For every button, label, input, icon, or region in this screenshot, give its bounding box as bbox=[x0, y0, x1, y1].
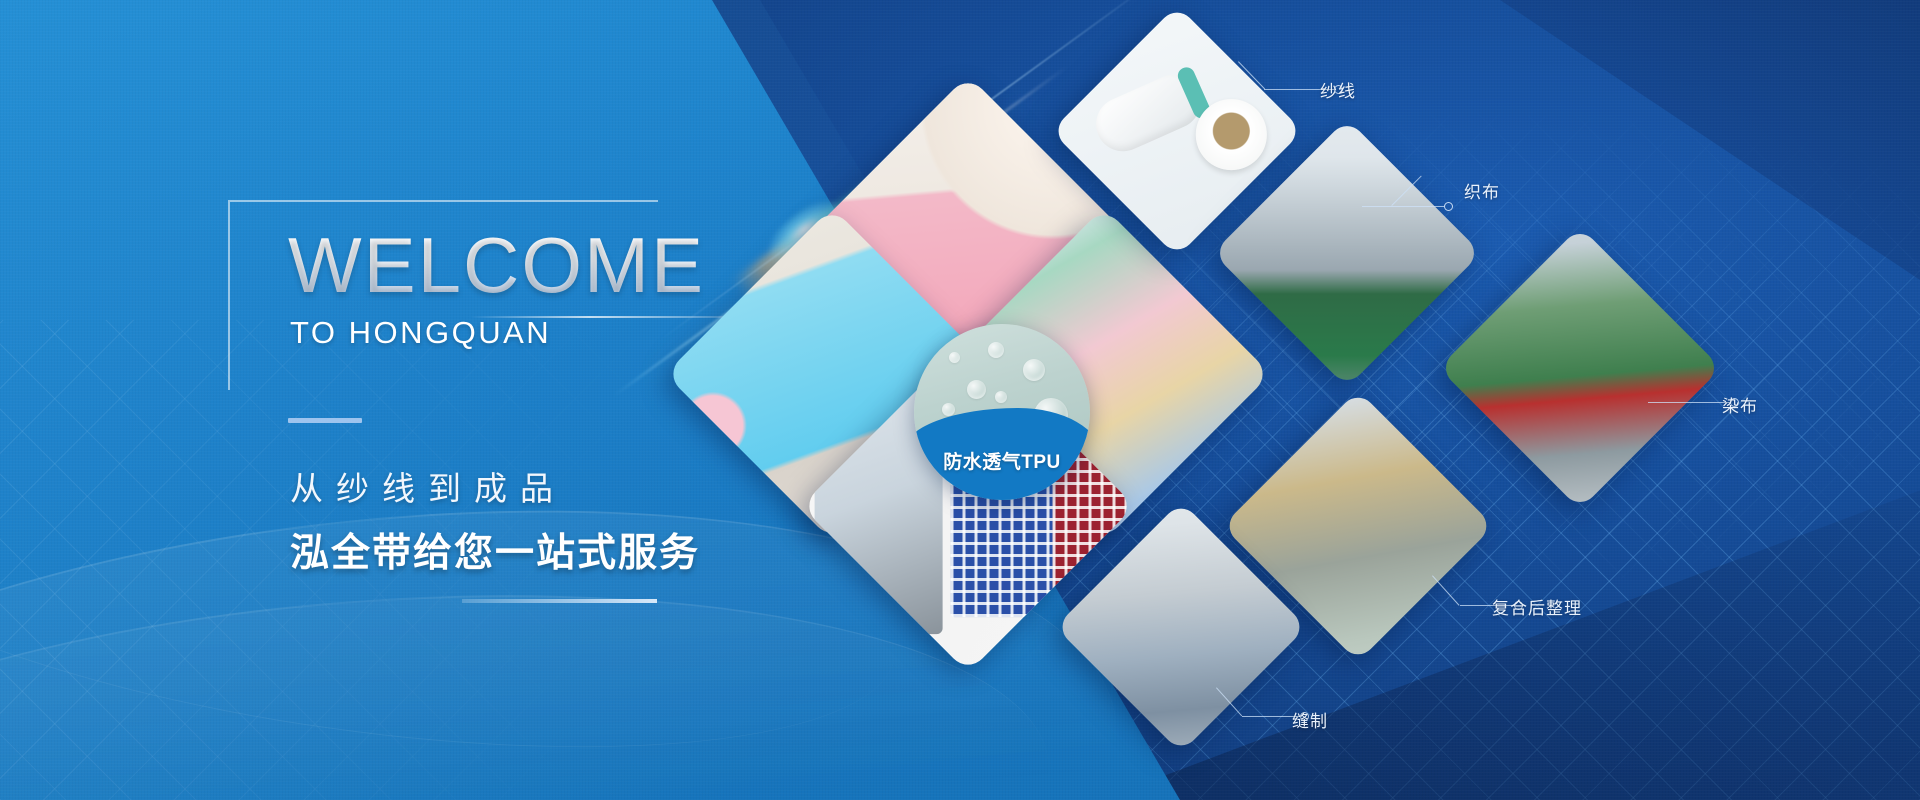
process-label-yarn: 纱线 bbox=[1320, 77, 1356, 102]
process-label-weaving: 织布 bbox=[1464, 178, 1500, 203]
tpu-badge[interactable]: 防水透气TPU bbox=[914, 324, 1090, 500]
accent-dash bbox=[288, 418, 362, 423]
process-label-finishing: 复合后整理 bbox=[1492, 594, 1582, 619]
page-title: WELCOME bbox=[288, 228, 705, 302]
banner-stage: WELCOME TO HONGQUAN 从纱线到成品 泓全带给您一站式服务 bbox=[0, 0, 1920, 800]
process-label-dyeing: 染布 bbox=[1722, 392, 1758, 417]
tagline-primary: 从纱线到成品 bbox=[290, 462, 566, 510]
tagline-secondary: 泓全带给您一站式服务 bbox=[290, 522, 700, 578]
tpu-badge-label: 防水透气TPU bbox=[914, 447, 1090, 474]
bottom-rule bbox=[462, 599, 657, 603]
process-label-sewing: 缝制 bbox=[1292, 707, 1328, 732]
page-subtitle: TO HONGQUAN bbox=[290, 315, 551, 351]
